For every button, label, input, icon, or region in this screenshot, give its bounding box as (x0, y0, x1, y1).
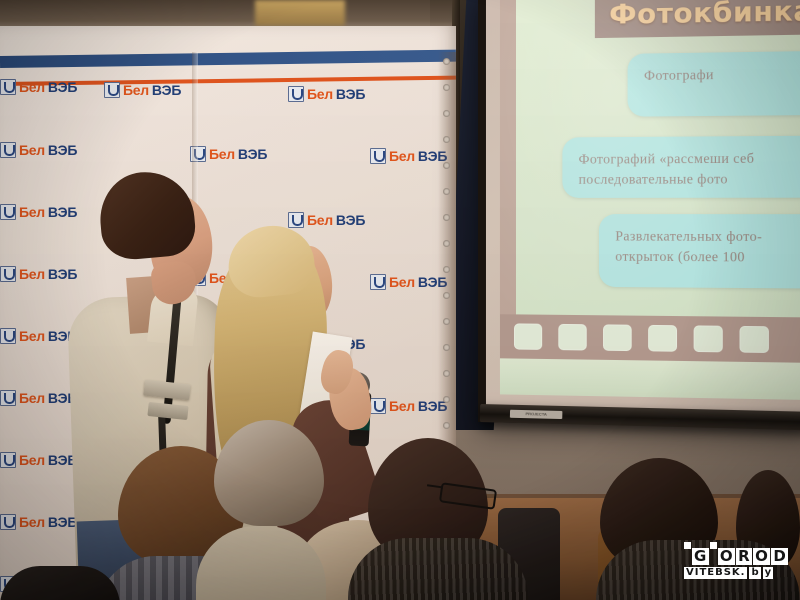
logo-text-veb: ВЭБ (336, 212, 365, 228)
belveb-b-mark-icon (0, 142, 16, 158)
watermark-square-1 (684, 542, 691, 549)
logo-text-bel: Бел (307, 212, 333, 228)
slide-title-bar: Фотокбинка п (595, 0, 800, 38)
banner-logo-9: БелВЭБ (0, 266, 77, 282)
logo-text-bel: Бел (19, 266, 45, 282)
banner-logo-15: БелВЭБ (0, 390, 77, 406)
projection-screen: Фотокбинка п Фотографи Фотографий «рассм… (478, 0, 800, 429)
banner-logo-21: БелВЭБ (0, 514, 77, 530)
logo-text-bel: Бел (389, 148, 415, 164)
banner-logo-3: БелВЭБ (0, 142, 77, 158)
screen-brand-label: PROJECTA (510, 410, 563, 419)
watermark-line-1: G O R O D (684, 542, 790, 565)
belveb-b-mark-icon (104, 82, 120, 98)
logo-text-bel: Бел (123, 82, 149, 98)
watermark-o2: O (753, 548, 770, 565)
screen-surface: Фотокбинка п Фотографи Фотографий «рассм… (486, 0, 800, 421)
watermark-line-2: VITEBSK. b y (684, 567, 790, 579)
belveb-b-mark-icon (0, 204, 16, 220)
logo-text-bel: Бел (19, 328, 45, 344)
banner-logo-4: БелВЭБ (190, 146, 267, 162)
ceiling-light-glow (255, 0, 345, 26)
banner-logo-17: БелВЭБ (370, 398, 447, 414)
belveb-b-mark-icon (0, 79, 16, 95)
logo-text-bel: Бел (19, 204, 45, 220)
banner-logo-12: БелВЭБ (0, 328, 77, 344)
banner-blue-stripe (0, 50, 456, 68)
logo-text-bel: Бел (19, 79, 45, 95)
watermark-square-2 (710, 542, 717, 549)
banner-logo-6: БелВЭБ (0, 204, 77, 220)
belveb-b-mark-icon (288, 86, 304, 102)
watermark-d: D (771, 548, 788, 565)
logo-text-bel: Бел (389, 398, 415, 414)
logo-text-bel: Бел (19, 452, 45, 468)
banner-logo-18: БелВЭБ (0, 452, 77, 468)
logo-text-veb: ВЭБ (48, 79, 77, 95)
logo-text-bel: Бел (307, 86, 333, 102)
slide-bullet-2-text: Фотографий «рассмеши себ последовательны… (579, 148, 800, 189)
belveb-b-mark-icon (288, 212, 304, 228)
logo-text-veb: ВЭБ (48, 204, 77, 220)
slide-bullet-3-text: Развлекательных фото- открыток (более 10… (615, 226, 800, 267)
audience-shoulder-striped (348, 538, 528, 600)
slide-title: Фотокбинка п (609, 0, 800, 31)
belveb-b-mark-icon (0, 266, 16, 282)
slide-bullet-3-line1: Развлекательных фото- (615, 228, 762, 244)
logo-text-bel: Бел (389, 274, 415, 290)
belveb-b-mark-icon (0, 328, 16, 344)
logo-text-veb: ВЭБ (238, 146, 267, 162)
belveb-b-mark-icon (0, 514, 16, 530)
slide-bullet-3-line2: открыток (более 100 (615, 248, 745, 264)
slide-canvas: Фотокбинка п Фотографи Фотографий «рассм… (500, 0, 800, 400)
slide-bullet-2-line1: Фотографий «рассмеши себ (579, 150, 755, 166)
watermark-o: O (718, 548, 735, 565)
watermark-g: G (692, 548, 709, 565)
belveb-b-mark-icon (370, 274, 386, 290)
watermark-r: R (736, 548, 752, 565)
photograph-scene: БелВЭББелВЭББелВЭББелВЭББелВЭББелВЭББелВ… (0, 0, 800, 600)
slide-filmstrip-bottom (500, 314, 800, 363)
belveb-b-mark-icon (370, 398, 386, 414)
banner-logo-2: БелВЭБ (288, 86, 365, 102)
slide-bullet-1: Фотографи (628, 50, 800, 117)
logo-text-bel: Бел (19, 142, 45, 158)
banner-logo-8: БелВЭБ (288, 212, 365, 228)
belveb-b-mark-icon (0, 452, 16, 468)
slide-content-area: Фотокбинка п Фотографи Фотографий «рассм… (516, 0, 800, 334)
belveb-b-mark-icon (0, 390, 16, 406)
banner-logo-11: БелВЭБ (370, 274, 447, 290)
logo-text-bel: Бел (19, 390, 45, 406)
logo-text-veb: ВЭБ (152, 82, 181, 98)
banner-logo-0: БелВЭБ (0, 79, 77, 95)
watermark-y: y (763, 567, 774, 579)
banner-logo-5: БелВЭБ (370, 148, 447, 164)
watermark-b: b (749, 567, 760, 579)
slide-bullet-3: Развлекательных фото- открыток (более 10… (599, 214, 800, 289)
slide-bullet-1-text: Фотографи (644, 62, 800, 85)
logo-text-veb: ВЭБ (48, 266, 77, 282)
logo-text-veb: ВЭБ (48, 142, 77, 158)
slide-bottom-margin (500, 358, 800, 400)
belveb-b-mark-icon (370, 148, 386, 164)
logo-text-veb: ВЭБ (336, 86, 365, 102)
slide-bullet-2: Фотографий «рассмеши себ последовательны… (562, 135, 800, 198)
banner-logo-1: БелВЭБ (104, 82, 181, 98)
slide-bullet-2-line2: последовательные фото (579, 171, 728, 187)
logo-text-veb: ВЭБ (48, 514, 77, 530)
watermark-site: VITEBSK. (684, 567, 747, 579)
logo-text-bel: Бел (19, 514, 45, 530)
logo-text-bel: Бел (209, 146, 235, 162)
gorod-vitebsk-watermark: G O R O D VITEBSK. b y (684, 542, 790, 586)
